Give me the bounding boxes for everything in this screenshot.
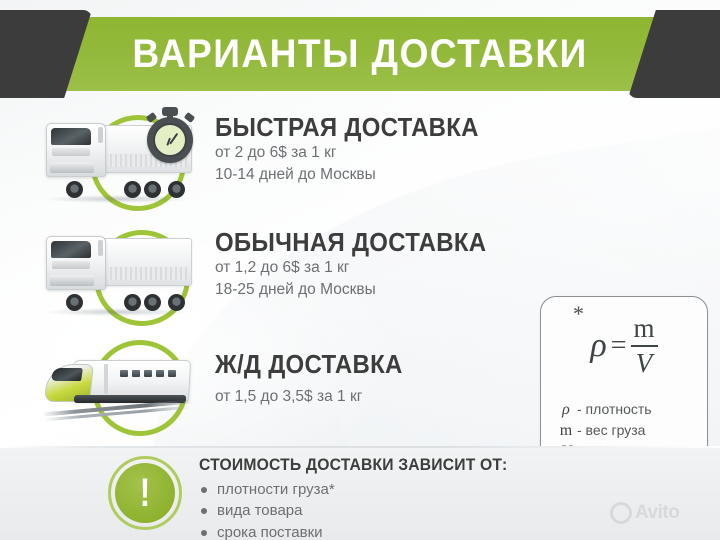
legend-text: - вес груза [577,422,645,438]
formula-numerator: m [631,315,658,344]
delivery-option-row: ОБЫЧНАЯ ДОСТАВКА от 1,2 до 6$ за 1 кг 18… [0,216,540,326]
truck-wheel [168,294,185,311]
option-text-block: Ж/Д ДОСТАВКА от 1,5 до 3,5$ за 1 кг [215,352,415,408]
option-price: от 1,2 до 6$ за 1 кг [215,257,504,279]
train-windshield [51,368,83,381]
truck-shadow [44,195,190,203]
train-door [104,364,108,394]
train-window [120,370,128,377]
truck-trailer [102,238,192,286]
truck-wheel [124,294,141,311]
option-title: Ж/Д ДОСТАВКА [215,352,403,379]
option-icon-area [34,103,199,213]
delivery-option-row: Ж/Д ДОСТАВКА от 1,5 до 3,5$ за 1 кг [0,330,540,440]
option-text-block: БЫСТРАЯ ДОСТАВКА от 2 до 6$ за 1 кг 10-1… [215,115,496,186]
delivery-option-row: БЫСТРАЯ ДОСТАВКА от 2 до 6$ за 1 кг 10-1… [0,103,540,213]
option-eta: 18-25 дней до Москвы [215,279,504,301]
truck-cab [46,236,106,290]
formula-equals-sign: = [611,330,627,362]
stopwatch-icon [142,105,200,163]
truck-grille [52,261,90,269]
formula-fraction: m V [631,315,658,377]
legend-symbol: ρ [555,401,577,419]
cost-factors-list: плотности груза* вида товара срока поста… [199,479,524,540]
exclamation-circle: ! [115,463,175,523]
truck-mirror [98,240,103,256]
list-item: срока поставки [199,522,524,540]
truck-cab [46,123,106,177]
truck-windshield [51,241,91,258]
train-window [144,370,152,377]
cost-factors-block: СТОИМОСТЬ ДОСТАВКИ ЗАВИСИТ ОТ: плотности… [199,456,524,540]
option-icon-area [34,330,199,440]
truck-wheel [66,181,83,198]
option-title: ОБЫЧНАЯ ДОСТАВКА [215,230,486,257]
legend-text: - плотность [577,401,652,417]
option-eta: 10-14 дней до Москвы [215,164,496,186]
truck-bumper [50,275,94,286]
page-title: ВАРИАНТЫ ДОСТАВКИ [25,17,695,91]
exclamation-mark: ! [121,463,169,523]
option-title: БЫСТРАЯ ДОСТАВКА [215,115,479,142]
option-price: от 1,5 до 3,5$ за 1 кг [215,386,415,408]
truck-wheel [66,294,83,311]
train-icon [42,346,192,422]
truck-mirror [98,127,103,143]
formula-fraction-bar [631,345,658,347]
truck-wheel [168,181,185,198]
exclamation-icon: ! [108,456,182,530]
truck-windshield [51,128,91,145]
option-text-block: ОБЫЧНАЯ ДОСТАВКА от 1,2 до 6$ за 1 кг 18… [215,230,504,301]
legend-row: m - вес груза [555,422,705,440]
truck-grille [52,148,90,156]
delivery-options-poster: ВАРИАНТЫ ДОСТАВКИ [0,0,720,540]
option-icon-area [34,216,199,326]
truck-bumper [50,162,94,173]
train-window [132,370,140,377]
truck-wheel [144,294,161,311]
cost-factors-title: СТОИМОСТЬ ДОСТАВКИ ЗАВИСИТ ОТ: [199,456,507,475]
legend-row: ρ - плотность [555,401,705,419]
list-item: плотности груза* [199,479,524,500]
truck-icon [40,234,192,308]
list-item: вида товара [199,500,524,521]
truck-shadow [44,308,190,316]
legend-symbol: m [555,422,577,440]
option-price: от 2 до 6$ за 1 кг [215,142,496,164]
train-window [168,370,176,377]
train-window [156,370,164,377]
stopwatch-crown [162,107,178,116]
formula-rho-symbol: ρ [590,327,606,365]
truck-wheel [144,181,161,198]
formula-expression: ρ = m V [541,315,707,377]
formula-denominator: V [631,348,658,377]
stopwatch-button-right [184,112,195,123]
truck-wheel [124,181,141,198]
